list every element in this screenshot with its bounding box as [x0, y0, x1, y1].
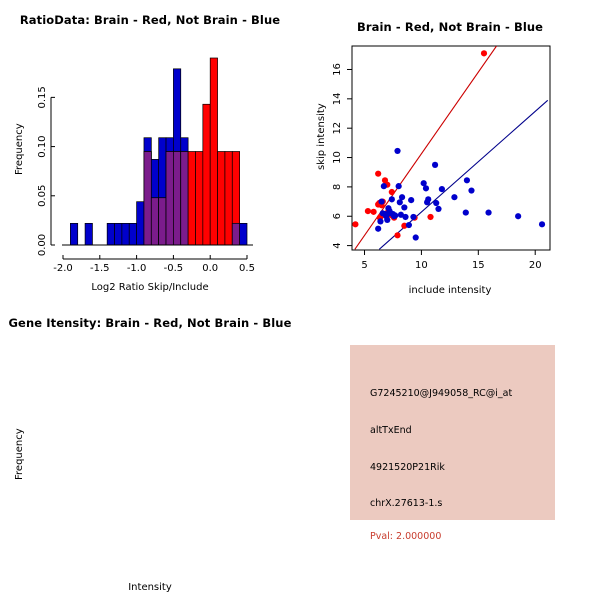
y-tick-label: 0.10: [37, 135, 48, 157]
histogram-bar-not-brain: [107, 223, 114, 245]
y-tick-label: 16: [332, 63, 343, 76]
y-tick-label: 0.05: [37, 185, 48, 207]
histogram-bar-not-brain: [115, 223, 122, 245]
x-axis: [63, 255, 247, 259]
histogram-bar-overlap: [159, 198, 166, 245]
scatter-point-not-brain: [377, 218, 383, 224]
x-tick-label: -0.5: [164, 263, 184, 274]
y-tick-label: 12: [332, 122, 343, 135]
panel-gene-histogram: Gene Itensity: Brain - Red, Not Brain - …: [0, 300, 300, 600]
ratio-histogram-xlabel: Log2 Ratio Skip/Include: [0, 282, 300, 293]
scatter-point-not-brain: [410, 214, 416, 220]
scatter-point-brain: [375, 171, 381, 177]
scatter-point-not-brain: [389, 196, 395, 202]
scatter-point-not-brain: [394, 148, 400, 154]
y-tick-label: 4: [332, 242, 343, 248]
pval-text: Pval: 2.000000: [370, 531, 441, 542]
histogram-bar-overlap: [181, 152, 188, 246]
scatter-point-brain: [394, 232, 400, 238]
x-tick-label: 5: [361, 260, 367, 271]
scatter-point-not-brain: [451, 194, 457, 200]
scatter-point-not-brain: [463, 209, 469, 215]
scatter-point-not-brain: [399, 194, 405, 200]
scatter-xlabel: include intensity: [300, 285, 600, 296]
x-tick-label: 0.0: [202, 263, 218, 274]
gene-info-box: G7245210@J949058_RC@i_at altTxEnd 492152…: [350, 345, 555, 520]
scatter-point-not-brain: [413, 234, 419, 240]
histogram-bar-not-brain: [240, 223, 247, 245]
x-tick-label: 15: [472, 260, 485, 271]
scatter-point-not-brain: [464, 177, 470, 183]
histogram-bar-not-brain: [129, 223, 136, 245]
histogram-bar-brain: [225, 152, 232, 246]
scatter-point-brain: [389, 189, 395, 195]
scatter-point-not-brain: [402, 214, 408, 220]
scatter-point-not-brain: [406, 222, 412, 228]
histogram-bar-overlap: [144, 152, 151, 246]
histogram-bar-brain: [188, 152, 195, 246]
scatter-point-brain: [481, 50, 487, 56]
histogram-bar-overlap: [166, 152, 173, 246]
location-text: chrX.27613-1.s: [370, 498, 442, 509]
scatter-point-brain: [352, 221, 358, 227]
panel-scatter: Brain - Red, Not Brain - Blue 5101520468…: [300, 0, 600, 300]
gene-histogram-plot: 468101214160.000.050.100.150.20: [0, 300, 300, 600]
panel-ratio-histogram: RatioData: Brain - Red, Not Brain - Blue…: [0, 0, 300, 300]
scatter-point-not-brain: [378, 198, 384, 204]
scatter-point-not-brain: [539, 221, 545, 227]
scatter-point-brain: [371, 209, 377, 215]
gene-histogram-ylabel: Frequency: [14, 428, 25, 480]
event-type-text: altTxEnd: [370, 425, 412, 436]
histogram-bar-not-brain: [70, 223, 77, 245]
gene-histogram-xlabel: Intensity: [0, 582, 300, 593]
panel-gene-info: G7245210@J949058_RC@i_at altTxEnd 492152…: [300, 300, 600, 600]
histogram-bar-not-brain: [85, 223, 92, 245]
scatter-axes: [347, 69, 535, 255]
y-axis: [51, 97, 55, 245]
scatter-point-not-brain: [485, 209, 491, 215]
scatter-point-not-brain: [433, 200, 439, 206]
scatter-plot: 510152046810121416: [300, 0, 600, 300]
probe-id-text: G7245210@J949058_RC@i_at: [370, 388, 512, 399]
scatter-point-not-brain: [435, 206, 441, 212]
scatter-point-not-brain: [423, 185, 429, 191]
ratio-histogram-plot: -2.0-1.5-1.0-0.50.00.50.000.050.100.15: [0, 0, 300, 300]
x-tick-label: 10: [415, 260, 428, 271]
scatter-point-not-brain: [401, 204, 407, 210]
y-tick-label: 0.15: [37, 86, 48, 108]
y-tick-label: 14: [332, 92, 343, 105]
scatter-point-not-brain: [425, 196, 431, 202]
histogram-bar-brain: [210, 58, 217, 245]
x-tick-label: -2.0: [53, 263, 73, 274]
scatter-point-not-brain: [381, 183, 387, 189]
x-tick-label: -1.0: [127, 263, 147, 274]
histogram-bar-brain: [218, 152, 225, 246]
scatter-points: [352, 50, 545, 240]
scatter-point-not-brain: [515, 213, 521, 219]
scatter-point-not-brain: [432, 162, 438, 168]
scatter-point-not-brain: [439, 186, 445, 192]
y-tick-label: 8: [332, 184, 343, 190]
x-tick-label: 20: [529, 260, 542, 271]
hist-bars: [70, 58, 247, 245]
scatter-ylabel: skip intensity: [316, 103, 327, 170]
histogram-bar-overlap: [151, 198, 158, 245]
gene-symbol-text: 4921520P21Rik: [370, 462, 445, 473]
histogram-bar-overlap: [173, 152, 180, 246]
x-tick-label: 0.5: [239, 263, 255, 274]
regression-line-brain-fit: [355, 46, 497, 249]
scatter-point-brain: [427, 214, 433, 220]
x-tick-label: -1.5: [90, 263, 110, 274]
scatter-point-not-brain: [396, 183, 402, 189]
scatter-point-not-brain: [468, 187, 474, 193]
scatter-point-not-brain: [384, 217, 390, 223]
y-tick-label: 0.00: [37, 234, 48, 256]
scatter-point-not-brain: [408, 197, 414, 203]
ratio-histogram-ylabel: Frequency: [14, 123, 25, 175]
histogram-bar-not-brain: [137, 202, 144, 245]
histogram-bar-overlap: [232, 223, 239, 245]
y-tick-label: 6: [332, 213, 343, 219]
y-tick-label: 10: [332, 151, 343, 164]
scatter-point-not-brain: [392, 212, 398, 218]
histogram-bar-not-brain: [122, 223, 129, 245]
scatter-point-not-brain: [375, 226, 381, 232]
histogram-bar-brain: [195, 152, 202, 246]
scatter-point-brain: [365, 208, 371, 214]
histogram-bar-brain: [203, 104, 210, 245]
